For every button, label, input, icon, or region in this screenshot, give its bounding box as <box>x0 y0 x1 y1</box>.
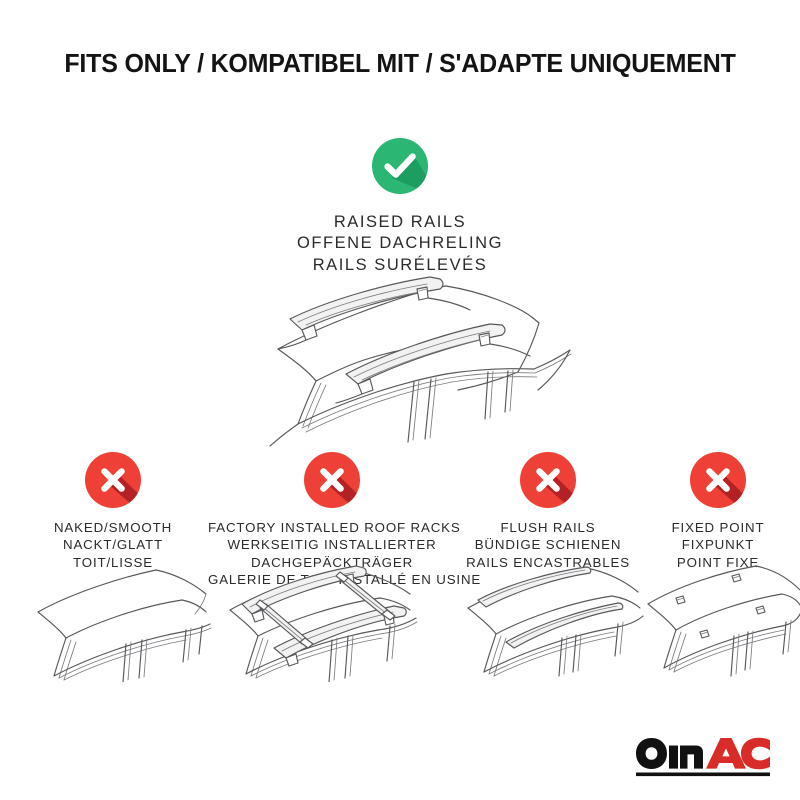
label-de-1: WERKSEITIG INSTALLIERTER <box>208 536 456 553</box>
cross-icon <box>690 452 746 508</box>
cross-badge <box>304 452 360 508</box>
label-de: FIXPUNKT <box>636 536 800 553</box>
compatible-labels: RAISED RAILS OFFENE DACHRELING RAILS SUR… <box>0 212 800 276</box>
logo-underline <box>636 773 770 777</box>
check-badge <box>372 138 428 194</box>
label-de: BÜNDIGE SCHIENEN <box>452 536 644 553</box>
factory-crossbars-illustration <box>208 552 456 682</box>
compatible-label-en: RAISED RAILS <box>0 212 800 233</box>
compatible-label-fr: RAILS SURÉLEVÉS <box>0 255 800 276</box>
check-icon <box>372 138 428 194</box>
label-en: FIXED POINT <box>636 519 800 536</box>
logo-letter-a <box>706 738 746 769</box>
cross-icon <box>85 452 141 508</box>
bare-roof-illustration <box>14 560 212 682</box>
flush-rails-illustration <box>452 552 644 678</box>
label-en: FACTORY INSTALLED ROOF RACKS <box>208 519 456 536</box>
cross-badge <box>85 452 141 508</box>
incompatible-item-naked-smooth: NAKED/SMOOTH NACKT/GLATT TOIT/LISSE <box>14 452 212 571</box>
compatible-label-de: OFFENE DACHRELING <box>0 233 800 254</box>
incompatible-item-fixed-point: FIXED POINT FIXPUNKT POINT FIXE <box>636 452 800 571</box>
logo-letter-m <box>669 746 703 769</box>
cross-icon <box>520 452 576 508</box>
page-title: FITS ONLY / KOMPATIBEL MIT / S'ADAPTE UN… <box>8 50 792 79</box>
cross-badge <box>520 452 576 508</box>
incompatible-section: NAKED/SMOOTH NACKT/GLATT TOIT/LISSE <box>0 452 800 692</box>
infographic-canvas: FITS ONLY / KOMPATIBEL MIT / S'ADAPTE UN… <box>0 0 800 800</box>
cross-icon <box>304 452 360 508</box>
label-en: FLUSH RAILS <box>452 519 644 536</box>
cross-badge <box>690 452 746 508</box>
label-en: NAKED/SMOOTH <box>14 519 212 536</box>
fixed-points-illustration <box>636 552 800 678</box>
logo-letter-c <box>741 738 770 770</box>
label-de: NACKT/GLATT <box>14 536 212 553</box>
incompatible-item-flush-rails: FLUSH RAILS BÜNDIGE SCHIENEN RAILS ENCAS… <box>452 452 644 571</box>
incompatible-item-factory-racks: FACTORY INSTALLED ROOF RACKS WERKSEITIG … <box>208 452 456 588</box>
raised-rails-illustration <box>178 276 626 448</box>
compatible-section: RAISED RAILS OFFENE DACHRELING RAILS SUR… <box>0 138 800 276</box>
brand-logo-omac <box>634 734 772 782</box>
logo-letter-o <box>636 738 667 769</box>
